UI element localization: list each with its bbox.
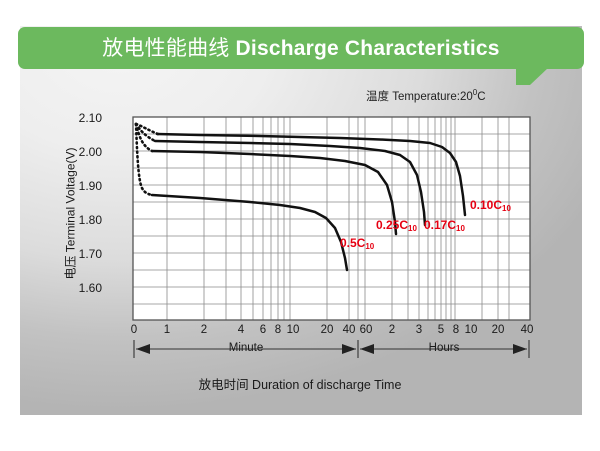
- curve-label-subscript: 10: [408, 224, 417, 233]
- x-tick-label: 10: [287, 324, 300, 336]
- plot-background: [133, 117, 530, 320]
- curve-label-0.5C10: 0.5C10: [340, 236, 374, 250]
- bottom-margin: [0, 415, 600, 451]
- curve-label-text: 0.10C: [470, 198, 502, 212]
- axis-range-indicators: [134, 340, 529, 358]
- range-label-minute: Minute: [229, 342, 264, 354]
- curve-label-subscript: 10: [365, 242, 374, 251]
- discharge-characteristics-figure: 放电性能曲线 Discharge Characteristics 温度 Temp…: [0, 0, 600, 451]
- x-axis-caption: 放电时间 Duration of discharge Time: [0, 374, 600, 393]
- curve-label-0.10C10: 0.10C10: [470, 198, 511, 212]
- arrow-right-minute: [342, 344, 356, 354]
- arrow-left-minute: [136, 344, 150, 354]
- curve-label-subscript: 10: [502, 204, 511, 213]
- x-tick-label: 6: [260, 324, 266, 336]
- x-tick-label: 1: [164, 324, 170, 336]
- x-tick-label: 60: [360, 324, 373, 336]
- curve-label-0.25C10: 0.25C10: [376, 218, 417, 232]
- x-tick-label: 2: [201, 324, 207, 336]
- x-tick-label: 4: [238, 324, 244, 336]
- x-tick-label: 20: [492, 324, 505, 336]
- x-tick-label: 0: [131, 324, 137, 336]
- x-tick-label: 2: [389, 324, 395, 336]
- arrow-right-hours: [513, 344, 527, 354]
- curve-label-text: 0.5C: [340, 236, 365, 250]
- x-tick-label: 8: [453, 324, 459, 336]
- arrow-left-hours: [360, 344, 374, 354]
- x-tick-label: 40: [521, 324, 534, 336]
- x-tick-label: 10: [465, 324, 478, 336]
- x-tick-label: 3: [416, 324, 422, 336]
- x-tick-label: 5: [438, 324, 444, 336]
- x-tick-label: 40: [343, 324, 356, 336]
- curve-label-text: 0.17C: [424, 218, 456, 232]
- x-tick-label: 8: [275, 324, 281, 336]
- curve-label-subscript: 10: [456, 224, 465, 233]
- x-tick-label: 20: [321, 324, 334, 336]
- range-label-hours: Hours: [429, 342, 460, 354]
- curve-label-0.17C10: 0.17C10: [424, 218, 465, 232]
- curve-label-text: 0.25C: [376, 218, 408, 232]
